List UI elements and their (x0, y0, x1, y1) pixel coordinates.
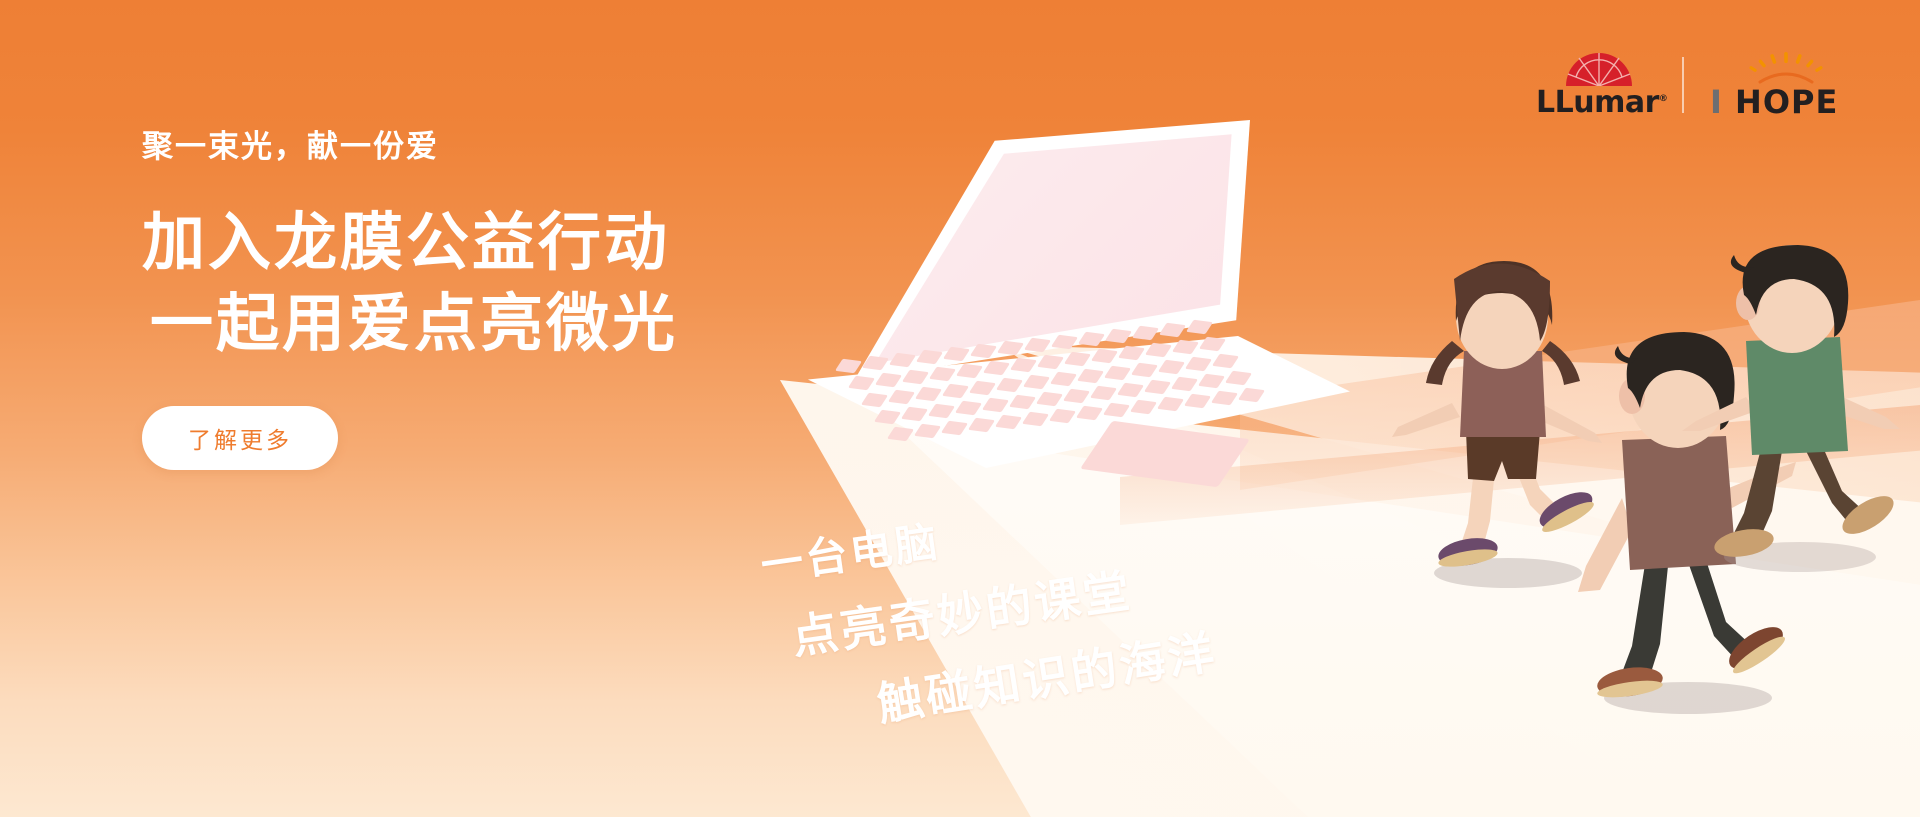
laptop-key (1145, 343, 1172, 358)
laptop-key (1184, 394, 1211, 409)
laptop-illustration (790, 120, 1350, 480)
llumar-sunburst-icon (1566, 52, 1632, 86)
laptop-key (1144, 380, 1171, 395)
laptop-key (901, 407, 928, 422)
laptop-key (1172, 340, 1199, 355)
logo-divider (1682, 57, 1684, 113)
laptop-key (1117, 383, 1144, 398)
laptop-key (862, 356, 889, 371)
laptop-key (1103, 403, 1130, 418)
llumar-wordmark-text: LLumar (1536, 85, 1659, 120)
headline-line-2: 一起用爱点亮微光 (142, 284, 862, 365)
headline-line-1: 加入龙膜公益行动 (142, 208, 670, 278)
laptop-key (956, 364, 983, 379)
laptop-key (1063, 389, 1090, 404)
laptop-key (968, 418, 995, 433)
laptop-key (1171, 377, 1198, 392)
hope-letter-i: I (1710, 83, 1723, 121)
hope-word-text: HOPE (1735, 83, 1838, 121)
laptop-key (1212, 354, 1239, 369)
laptop-key (1211, 391, 1238, 406)
laptop-key (915, 387, 942, 402)
laptop-key (955, 401, 982, 416)
laptop-key (914, 424, 941, 439)
hope-sunrise-icon (1740, 52, 1832, 84)
laptop-key (1238, 388, 1265, 403)
laptop-key (1104, 366, 1131, 381)
laptop-key (1064, 352, 1091, 367)
laptop-key (861, 393, 888, 408)
llumar-wordmark: LLumar® (1536, 88, 1656, 118)
i-hope-logo[interactable]: I HOPE (1710, 52, 1860, 118)
laptop-key (928, 404, 955, 419)
laptop-keyboard (790, 336, 1350, 486)
laptop-key (1022, 412, 1049, 427)
laptop-key (941, 421, 968, 436)
laptop-key (1050, 372, 1077, 387)
laptop-key (1199, 337, 1226, 352)
laptop-key (1023, 375, 1050, 390)
laptop-key (970, 344, 997, 359)
learn-more-button[interactable]: 了解更多 (142, 406, 338, 470)
laptop-key (887, 427, 914, 442)
laptop-key (982, 398, 1009, 413)
laptop-key (943, 347, 970, 362)
laptop-key (1225, 371, 1252, 386)
laptop-key (1130, 400, 1157, 415)
laptop-key (1051, 335, 1078, 350)
laptop-key (1009, 395, 1036, 410)
laptop-key (983, 361, 1010, 376)
llumar-trademark: ® (1659, 94, 1668, 104)
laptop-key (1049, 409, 1076, 424)
laptop-key (942, 384, 969, 399)
laptop-key (996, 378, 1023, 393)
laptop-key (1131, 363, 1158, 378)
laptop-key (1024, 338, 1051, 353)
laptop-key (1118, 346, 1145, 361)
laptop-key (889, 353, 916, 368)
laptop-key (874, 410, 901, 425)
laptop-key (995, 415, 1022, 430)
page-title: 加入龙膜公益行动 一起用爱点亮微光 (142, 203, 862, 364)
laptop-key (1090, 386, 1117, 401)
laptop-key (1010, 358, 1037, 373)
promo-banner: 聚一束光，献一份爱 加入龙膜公益行动 一起用爱点亮微光 了解更多 一台电脑 点亮… (0, 0, 1920, 817)
laptop-key (969, 381, 996, 396)
laptop-key (888, 390, 915, 405)
laptop-key (916, 350, 943, 365)
logo-group: LLumar® I HOPE (1536, 52, 1860, 118)
laptop-key (1091, 349, 1118, 364)
copy-block: 聚一束光，献一份爱 加入龙膜公益行动 一起用爱点亮微光 了解更多 (142, 128, 862, 470)
laptop-key (1157, 397, 1184, 412)
laptop-key (1077, 369, 1104, 384)
laptop-key (1185, 357, 1212, 372)
laptop-key (1158, 360, 1185, 375)
laptop-key (1198, 374, 1225, 389)
laptop-key (875, 373, 902, 388)
i-hope-wordmark: I HOPE (1710, 86, 1860, 118)
llumar-logo[interactable]: LLumar® (1536, 52, 1656, 118)
laptop-key (1037, 355, 1064, 370)
laptop-key (1076, 406, 1103, 421)
eyebrow-text: 聚一束光，献一份爱 (142, 128, 862, 165)
laptop-key (929, 367, 956, 382)
laptop-key (997, 341, 1024, 356)
laptop-key (902, 370, 929, 385)
child-boy-in-green-shirt (1680, 245, 1920, 575)
laptop-key (1036, 392, 1063, 407)
